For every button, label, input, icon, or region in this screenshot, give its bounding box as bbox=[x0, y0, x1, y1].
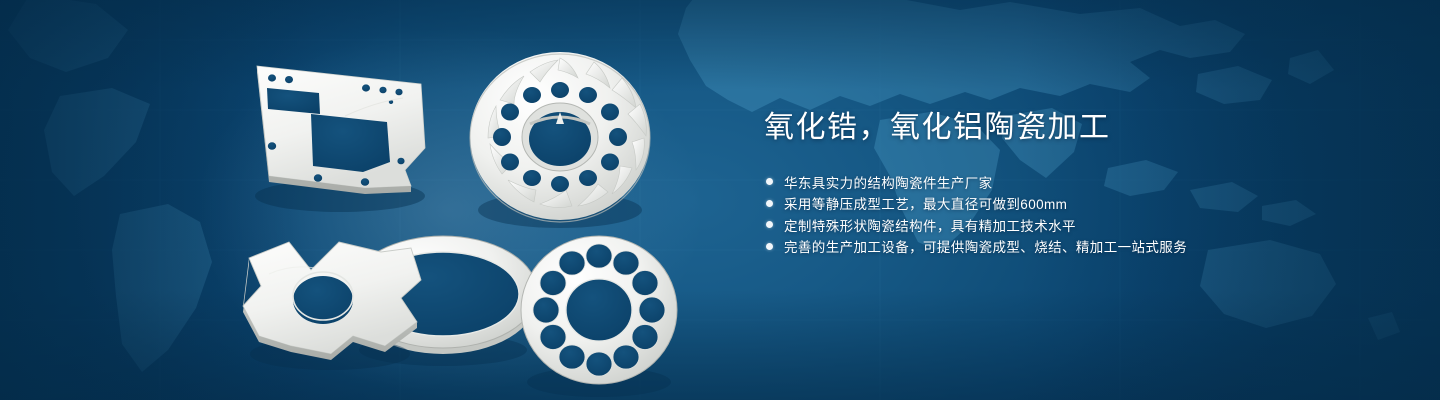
list-item: 完善的生产加工设备，可提供陶瓷成型、烧结、精加工一站式服务 bbox=[764, 236, 1364, 258]
feature-list: 华东具实力的结构陶瓷件生产厂家 采用等静压成型工艺，最大直径可做到600mm 定… bbox=[764, 171, 1364, 257]
ceramic-perforated-disc bbox=[521, 236, 677, 397]
bullet-dot-icon bbox=[766, 243, 773, 250]
list-item-label: 华东具实力的结构陶瓷件生产厂家 bbox=[784, 172, 993, 192]
list-item-label: 采用等静压成型工艺，最大直径可做到600mm bbox=[784, 193, 1067, 213]
hero-banner: 氧化锆，氧化铝陶瓷加工 华东具实力的结构陶瓷件生产厂家 采用等静压成型工艺，最大… bbox=[0, 0, 1440, 400]
product-photo-cluster bbox=[235, 36, 705, 386]
page-title: 氧化锆，氧化铝陶瓷加工 bbox=[764, 108, 1364, 147]
list-item-label: 完善的生产加工设备，可提供陶瓷成型、烧结、精加工一站式服务 bbox=[784, 236, 1187, 256]
bullet-dot-icon bbox=[766, 221, 773, 228]
banner-copy: 氧化锆，氧化铝陶瓷加工 华东具实力的结构陶瓷件生产厂家 采用等静压成型工艺，最大… bbox=[764, 108, 1364, 257]
bullet-dot-icon bbox=[766, 200, 773, 207]
list-item-label: 定制特殊形状陶瓷结构件，具有精加工技术水平 bbox=[784, 215, 1076, 235]
bullet-dot-icon bbox=[766, 178, 773, 185]
list-item: 定制特殊形状陶瓷结构件，具有精加工技术水平 bbox=[764, 214, 1364, 236]
list-item: 华东具实力的结构陶瓷件生产厂家 bbox=[764, 171, 1364, 193]
list-item: 采用等静压成型工艺，最大直径可做到600mm bbox=[764, 193, 1364, 215]
ceramic-impeller-disc bbox=[470, 52, 650, 228]
ceramic-plate-with-cutouts bbox=[255, 66, 425, 212]
ceramic-cross-plate bbox=[243, 242, 421, 370]
